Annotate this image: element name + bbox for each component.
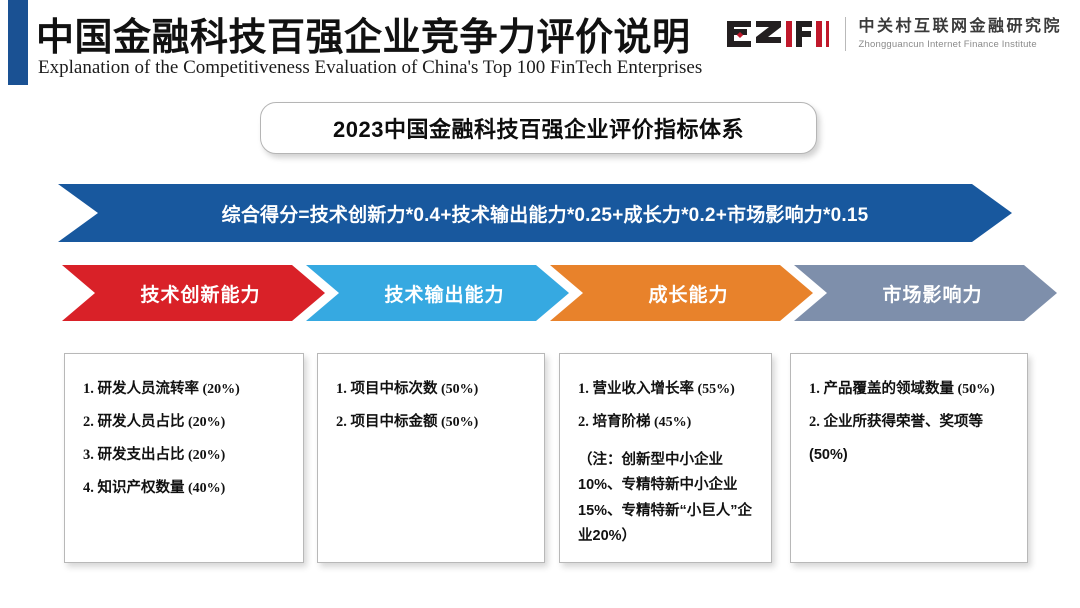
pillar-label: 成长能力 xyxy=(634,280,728,307)
detail-line-text: 项目中标次数 xyxy=(351,381,438,397)
logo-name-en: Zhongguancun Internet Finance Institute xyxy=(858,38,1062,51)
page-subtitle: Explanation of the Competitiveness Evalu… xyxy=(38,57,702,79)
detail-line-weight: (20%) xyxy=(185,415,226,430)
detail-line-number: 4. xyxy=(83,480,98,496)
detail-line-text: 企业所获得荣誉、奖项等 xyxy=(824,414,984,430)
logo-text-block: 中关村互联网金融研究院 Zhongguancun Internet Financ… xyxy=(858,17,1062,51)
detail-line-number: 2. xyxy=(578,414,593,430)
detail-line-text: 培育阶梯 xyxy=(593,414,651,430)
detail-box-technical-innovation: 1. 研发人员流转率 (20%)2. 研发人员占比 (20%)3. 研发支出占比… xyxy=(64,353,304,563)
detail-line-text: 项目中标金额 xyxy=(351,414,438,430)
pillar-label: 技术创新能力 xyxy=(126,280,260,307)
header-accent-bar xyxy=(8,0,28,85)
detail-line-number: 1. xyxy=(83,381,98,397)
pillar-chevron-market-influence: 市场影响力 xyxy=(794,265,1057,321)
logo-divider xyxy=(845,17,846,51)
detail-line: 1. 营业收入增长率 (55%) xyxy=(578,382,759,398)
detail-line: 2. 企业所获得荣誉、奖项等 xyxy=(809,415,1015,431)
composite-score-formula-text: 综合得分=技术创新力*0.4+技术输出能力*0.25+成长力*0.2+市场影响力… xyxy=(202,200,869,227)
detail-line: 2. 项目中标金额 (50%) xyxy=(336,415,532,431)
detail-line-number: 2. xyxy=(809,414,824,430)
detail-line: 1. 产品覆盖的领域数量 (50%) xyxy=(809,382,1015,398)
detail-line-text: 研发人员占比 xyxy=(98,414,185,430)
detail-line-text: (50%) xyxy=(809,447,848,463)
detail-line-number: 2. xyxy=(336,414,351,430)
detail-line: 4. 知识产权数量 (40%) xyxy=(83,481,291,497)
pillar-chevron-growth: 成长能力 xyxy=(550,265,813,321)
detail-line-number: 1. xyxy=(578,381,593,397)
detail-line: 2. 研发人员占比 (20%) xyxy=(83,415,291,431)
detail-line-number: 1. xyxy=(336,381,351,397)
detail-line-weight: (45%) xyxy=(651,415,692,430)
detail-line-number: 2. xyxy=(83,414,98,430)
institute-logo: 中关村互联网金融研究院 Zhongguancun Internet Financ… xyxy=(725,12,1062,56)
composite-score-formula-banner: 综合得分=技术创新力*0.4+技术输出能力*0.25+成长力*0.2+市场影响力… xyxy=(58,184,1012,242)
detail-line-text: 研发支出占比 xyxy=(98,447,185,463)
detail-line-weight: (50%) xyxy=(954,382,995,397)
detail-line-weight: (55%) xyxy=(694,382,735,397)
detail-box-technical-output: 1. 项目中标次数 (50%)2. 项目中标金额 (50%) xyxy=(317,353,545,563)
pillar-chevron-technical-output: 技术输出能力 xyxy=(306,265,569,321)
detail-line-weight: (20%) xyxy=(199,382,240,397)
page-header: 中国金融科技百强企业竞争力评价说明 Explanation of the Com… xyxy=(0,0,1080,88)
pillar-label: 市场影响力 xyxy=(868,280,982,307)
logo-name-cn: 中关村互联网金融研究院 xyxy=(858,17,1062,36)
detail-box-market-influence: 1. 产品覆盖的领域数量 (50%)2. 企业所获得荣誉、奖项等(50%) xyxy=(790,353,1028,563)
indicator-system-title-card: 2023中国金融科技百强企业评价指标体系 xyxy=(260,102,817,154)
indicator-system-title: 2023中国金融科技百强企业评价指标体系 xyxy=(333,112,744,144)
pillar-label: 技术输出能力 xyxy=(370,280,504,307)
detail-line: 1. 研发人员流转率 (20%) xyxy=(83,382,291,398)
page-title: 中国金融科技百强企业竞争力评价说明 xyxy=(36,6,691,61)
detail-line-weight: (20%) xyxy=(185,448,226,463)
detail-line-text: （注：创新型中小企业10%、专精特新中小企业15%、专精特新“小巨人”企业20%… xyxy=(578,452,752,544)
detail-line-weight: (50%) xyxy=(438,382,479,397)
detail-line: （注：创新型中小企业10%、专精特新中小企业15%、专精特新“小巨人”企业20%… xyxy=(578,448,759,550)
detail-line-number: 1. xyxy=(809,381,824,397)
detail-line: 1. 项目中标次数 (50%) xyxy=(336,382,532,398)
pillar-chevron-technical-innovation: 技术创新能力 xyxy=(62,265,325,321)
detail-line-text: 产品覆盖的领域数量 xyxy=(824,381,955,397)
detail-line: 3. 研发支出占比 (20%) xyxy=(83,448,291,464)
detail-line-text: 知识产权数量 xyxy=(98,480,185,496)
detail-line-weight: (40%) xyxy=(185,481,226,496)
detail-line-weight: (50%) xyxy=(438,415,479,430)
detail-line-number: 3. xyxy=(83,447,98,463)
detail-line: 2. 培育阶梯 (45%) xyxy=(578,415,759,431)
czifi-logomark-icon xyxy=(725,19,833,49)
detail-line-text: 营业收入增长率 xyxy=(593,381,695,397)
detail-line: (50%) xyxy=(809,448,1015,464)
detail-line-text: 研发人员流转率 xyxy=(98,381,200,397)
detail-box-growth: 1. 营业收入增长率 (55%)2. 培育阶梯 (45%)（注：创新型中小企业1… xyxy=(559,353,772,563)
